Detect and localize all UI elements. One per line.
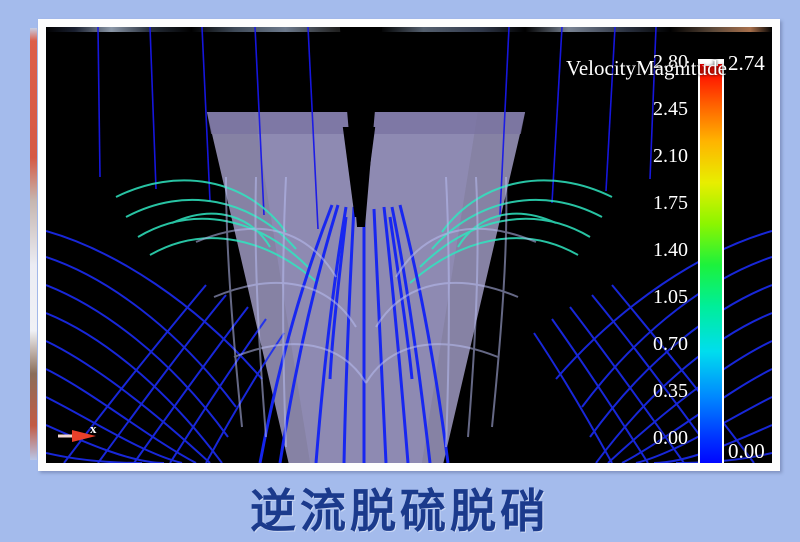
colorbar-tick-4: 1.40 bbox=[626, 239, 688, 262]
figure-caption: 逆流脱硫脱硝 bbox=[0, 474, 800, 542]
outward-arc-streamlines-right bbox=[386, 185, 682, 463]
axis-orientation-indicator bbox=[56, 423, 116, 449]
vessel-interior-streamlines bbox=[196, 177, 536, 447]
colorbar-tick-5: 1.05 bbox=[626, 286, 688, 309]
scan-edge-strip bbox=[30, 28, 37, 460]
colorbar-tick-7: 0.35 bbox=[626, 380, 688, 403]
velocity-colorbar[interactable] bbox=[698, 59, 724, 463]
colorbar-tick-6: 0.70 bbox=[626, 333, 688, 356]
cfd-render-canvas[interactable]: 2.74 0.00 2.80 2.45 2.10 1.75 1.40 1.05 … bbox=[46, 27, 772, 463]
colorbar-max-value: 2.74 bbox=[728, 51, 765, 76]
colorbar-tick-8: 0.00 bbox=[626, 427, 688, 450]
axis-x-label: x bbox=[90, 421, 97, 437]
screenshot-root: 2.74 0.00 2.80 2.45 2.10 1.75 1.40 1.05 … bbox=[0, 0, 800, 542]
colorbar-min-value: 0.00 bbox=[728, 439, 765, 463]
colorbar-title: VelocityMagnitude bbox=[566, 56, 727, 81]
colorbar-tick-3: 1.75 bbox=[626, 192, 688, 215]
colorbar-tick-2: 2.10 bbox=[626, 145, 688, 168]
render-frame: 2.74 0.00 2.80 2.45 2.10 1.75 1.40 1.05 … bbox=[38, 19, 780, 471]
colorbar-tick-1: 2.45 bbox=[626, 98, 688, 121]
